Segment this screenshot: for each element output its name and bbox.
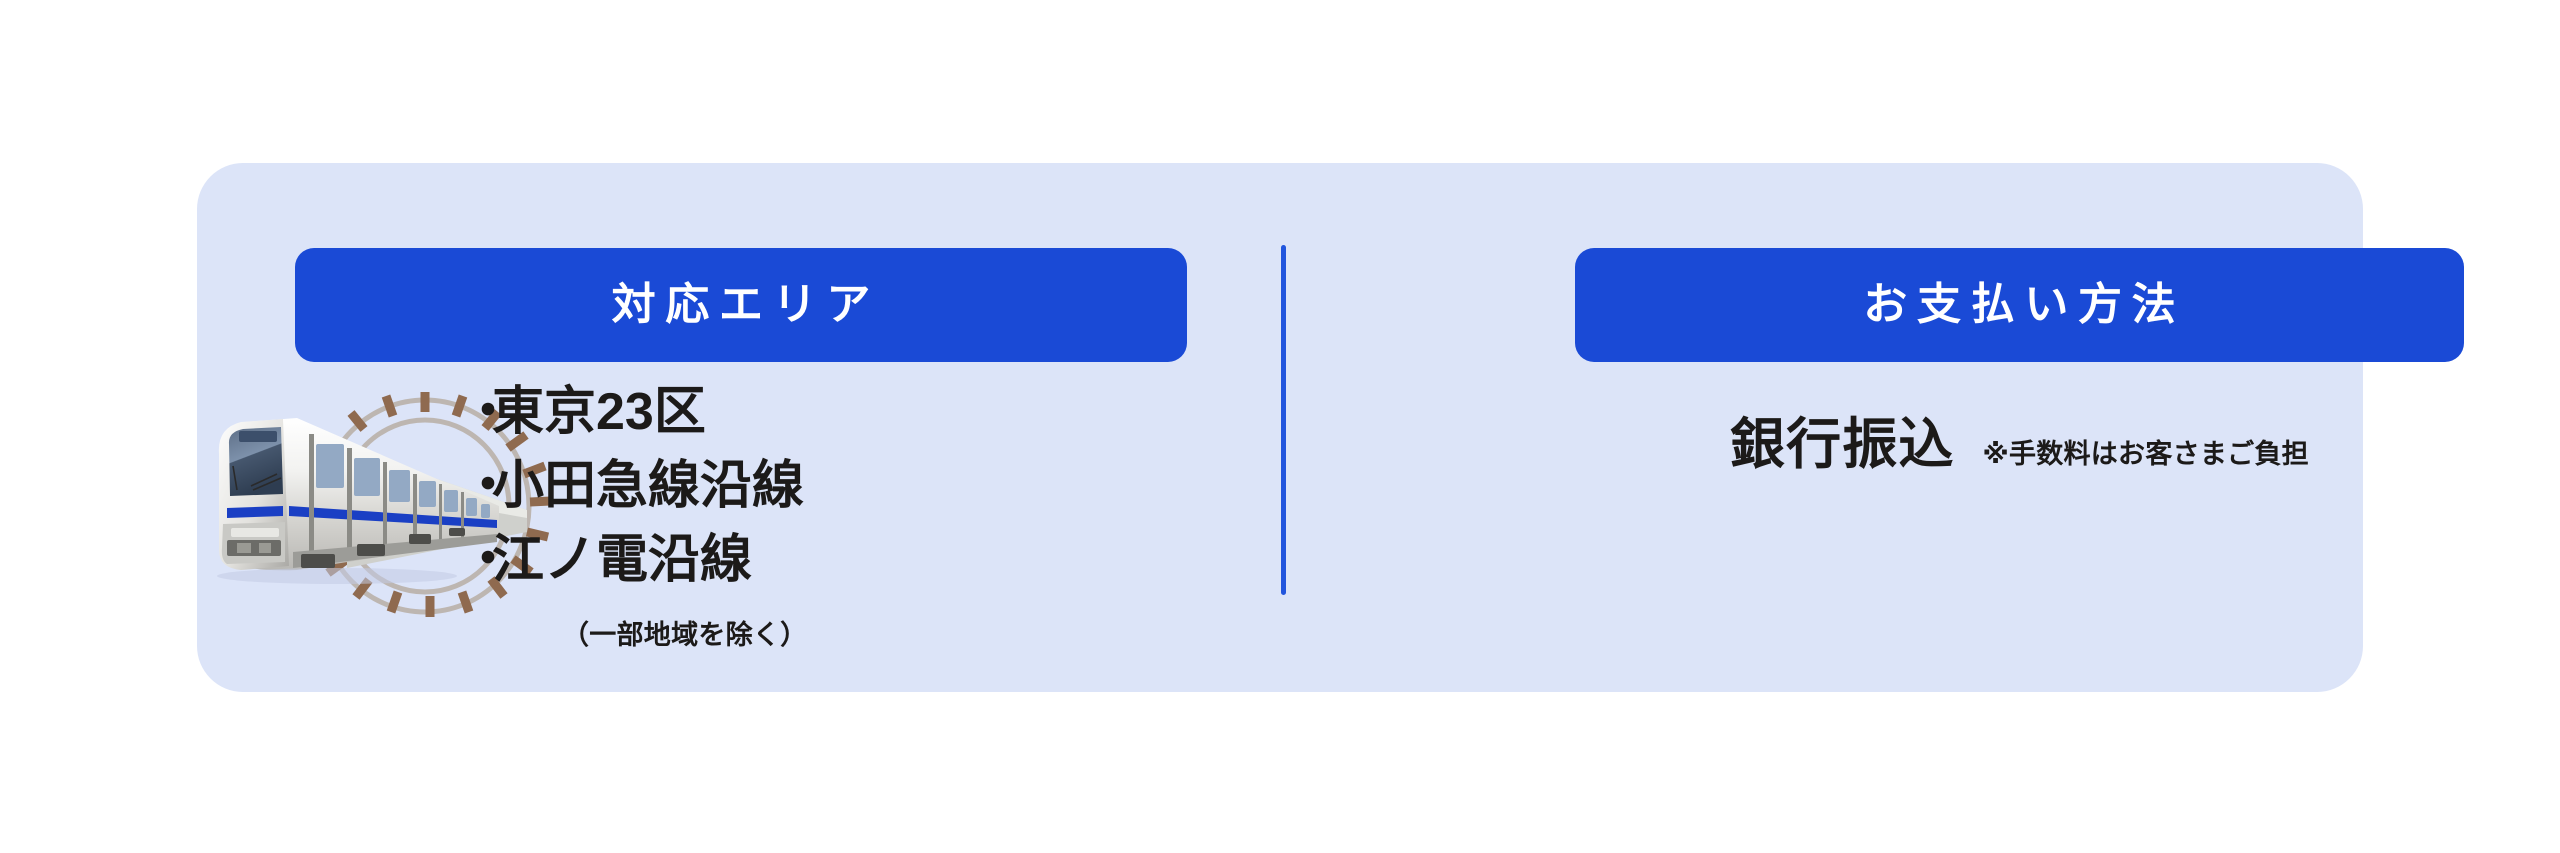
service-area-note: （一部地域を除く） [562,613,807,652]
bullet-icon: ・ [462,534,492,586]
list-item: ・ 江ノ電沿線 [462,524,1102,598]
service-area-body: ・ 東京23区 ・ 小田急線沿線 ・ 江ノ電沿線 （一部地域を除く） [197,376,1281,692]
area-label: 東京23区 [492,376,706,450]
list-item: ・ 東京23区 [462,376,1102,450]
service-area-list: ・ 東京23区 ・ 小田急線沿線 ・ 江ノ電沿線 [462,376,1102,597]
payment-method-note: ※手数料はお客さまご負担 [1982,432,2309,471]
payment-method-header-label: お支払い方法 [1854,283,2186,327]
panel-divider [1281,245,1286,595]
payment-method-body: 銀行振込 ※手数料はお客さまご負担 [1575,417,2464,472]
payment-method-value: 銀行振込 [1730,417,1954,472]
bullet-icon: ・ [462,460,492,512]
area-label: 江ノ電沿線 [492,524,752,598]
service-area-header: 対応エリア [295,248,1187,362]
payment-method-panel: お支払い方法 銀行振込 ※手数料はお客さまご負担 [1378,163,2363,692]
service-info-card: 対応エリア [197,163,2363,692]
service-area-panel: 対応エリア [197,163,1281,692]
list-item: ・ 小田急線沿線 [462,450,1102,524]
bullet-icon: ・ [462,386,492,438]
payment-method-header: お支払い方法 [1575,248,2464,362]
service-area-header-label: 対応エリア [602,283,880,327]
area-label: 小田急線沿線 [492,450,804,524]
page-root: 対応エリア [0,0,2560,853]
